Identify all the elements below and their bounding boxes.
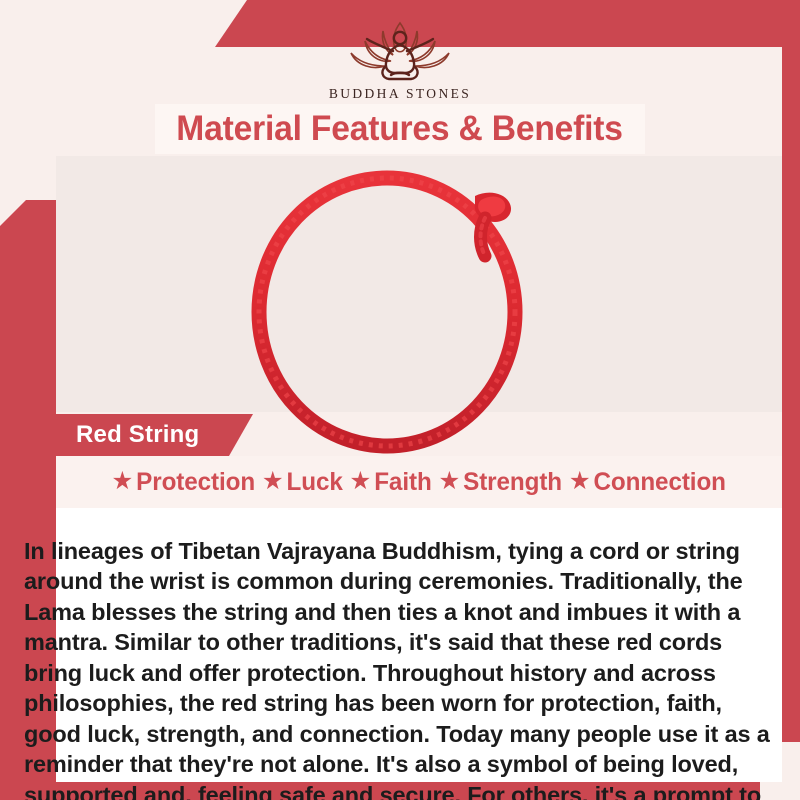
product-label-banner: Red String bbox=[28, 414, 253, 456]
right-red-stripe bbox=[782, 0, 800, 742]
features-strip: ★ Protection ★ Luck ★ Faith ★ Strength ★… bbox=[56, 456, 782, 508]
star-icon: ★ bbox=[569, 469, 591, 494]
lotus-meditation-figure-icon bbox=[295, 11, 505, 85]
product-photo-background bbox=[56, 156, 782, 412]
description-panel: In lineages of Tibetan Vajrayana Buddhis… bbox=[56, 508, 782, 782]
feature-label: Faith bbox=[375, 468, 432, 497]
feature-item-luck: ★ Luck bbox=[262, 468, 343, 497]
product-label-text: Red String bbox=[28, 421, 199, 449]
features-row: ★ Protection ★ Luck ★ Faith ★ Strength ★… bbox=[112, 468, 726, 497]
feature-item-faith: ★ Faith bbox=[350, 468, 432, 497]
header: BUDDHA STONES bbox=[0, 47, 800, 105]
brand-logo: BUDDHA STONES bbox=[295, 11, 505, 102]
feature-label: Luck bbox=[287, 468, 343, 497]
title-banner: Material Features & Benefits bbox=[155, 104, 645, 154]
feature-label: Connection bbox=[594, 468, 726, 497]
page-title: Material Features & Benefits bbox=[177, 109, 624, 149]
star-icon: ★ bbox=[350, 469, 372, 494]
star-icon: ★ bbox=[439, 469, 461, 494]
feature-item-protection: ★ Protection bbox=[112, 468, 256, 497]
feature-label: Protection bbox=[136, 468, 255, 497]
brand-wordmark: BUDDHA STONES bbox=[295, 86, 505, 102]
feature-item-connection: ★ Connection bbox=[569, 468, 726, 497]
infographic-page: BUDDHA STONES Material Features & Benefi… bbox=[0, 0, 800, 800]
star-icon: ★ bbox=[112, 469, 134, 494]
feature-label: Strength bbox=[463, 468, 562, 497]
feature-item-strength: ★ Strength bbox=[439, 468, 563, 497]
description-text: In lineages of Tibetan Vajrayana Buddhis… bbox=[24, 536, 784, 800]
star-icon: ★ bbox=[262, 469, 284, 494]
